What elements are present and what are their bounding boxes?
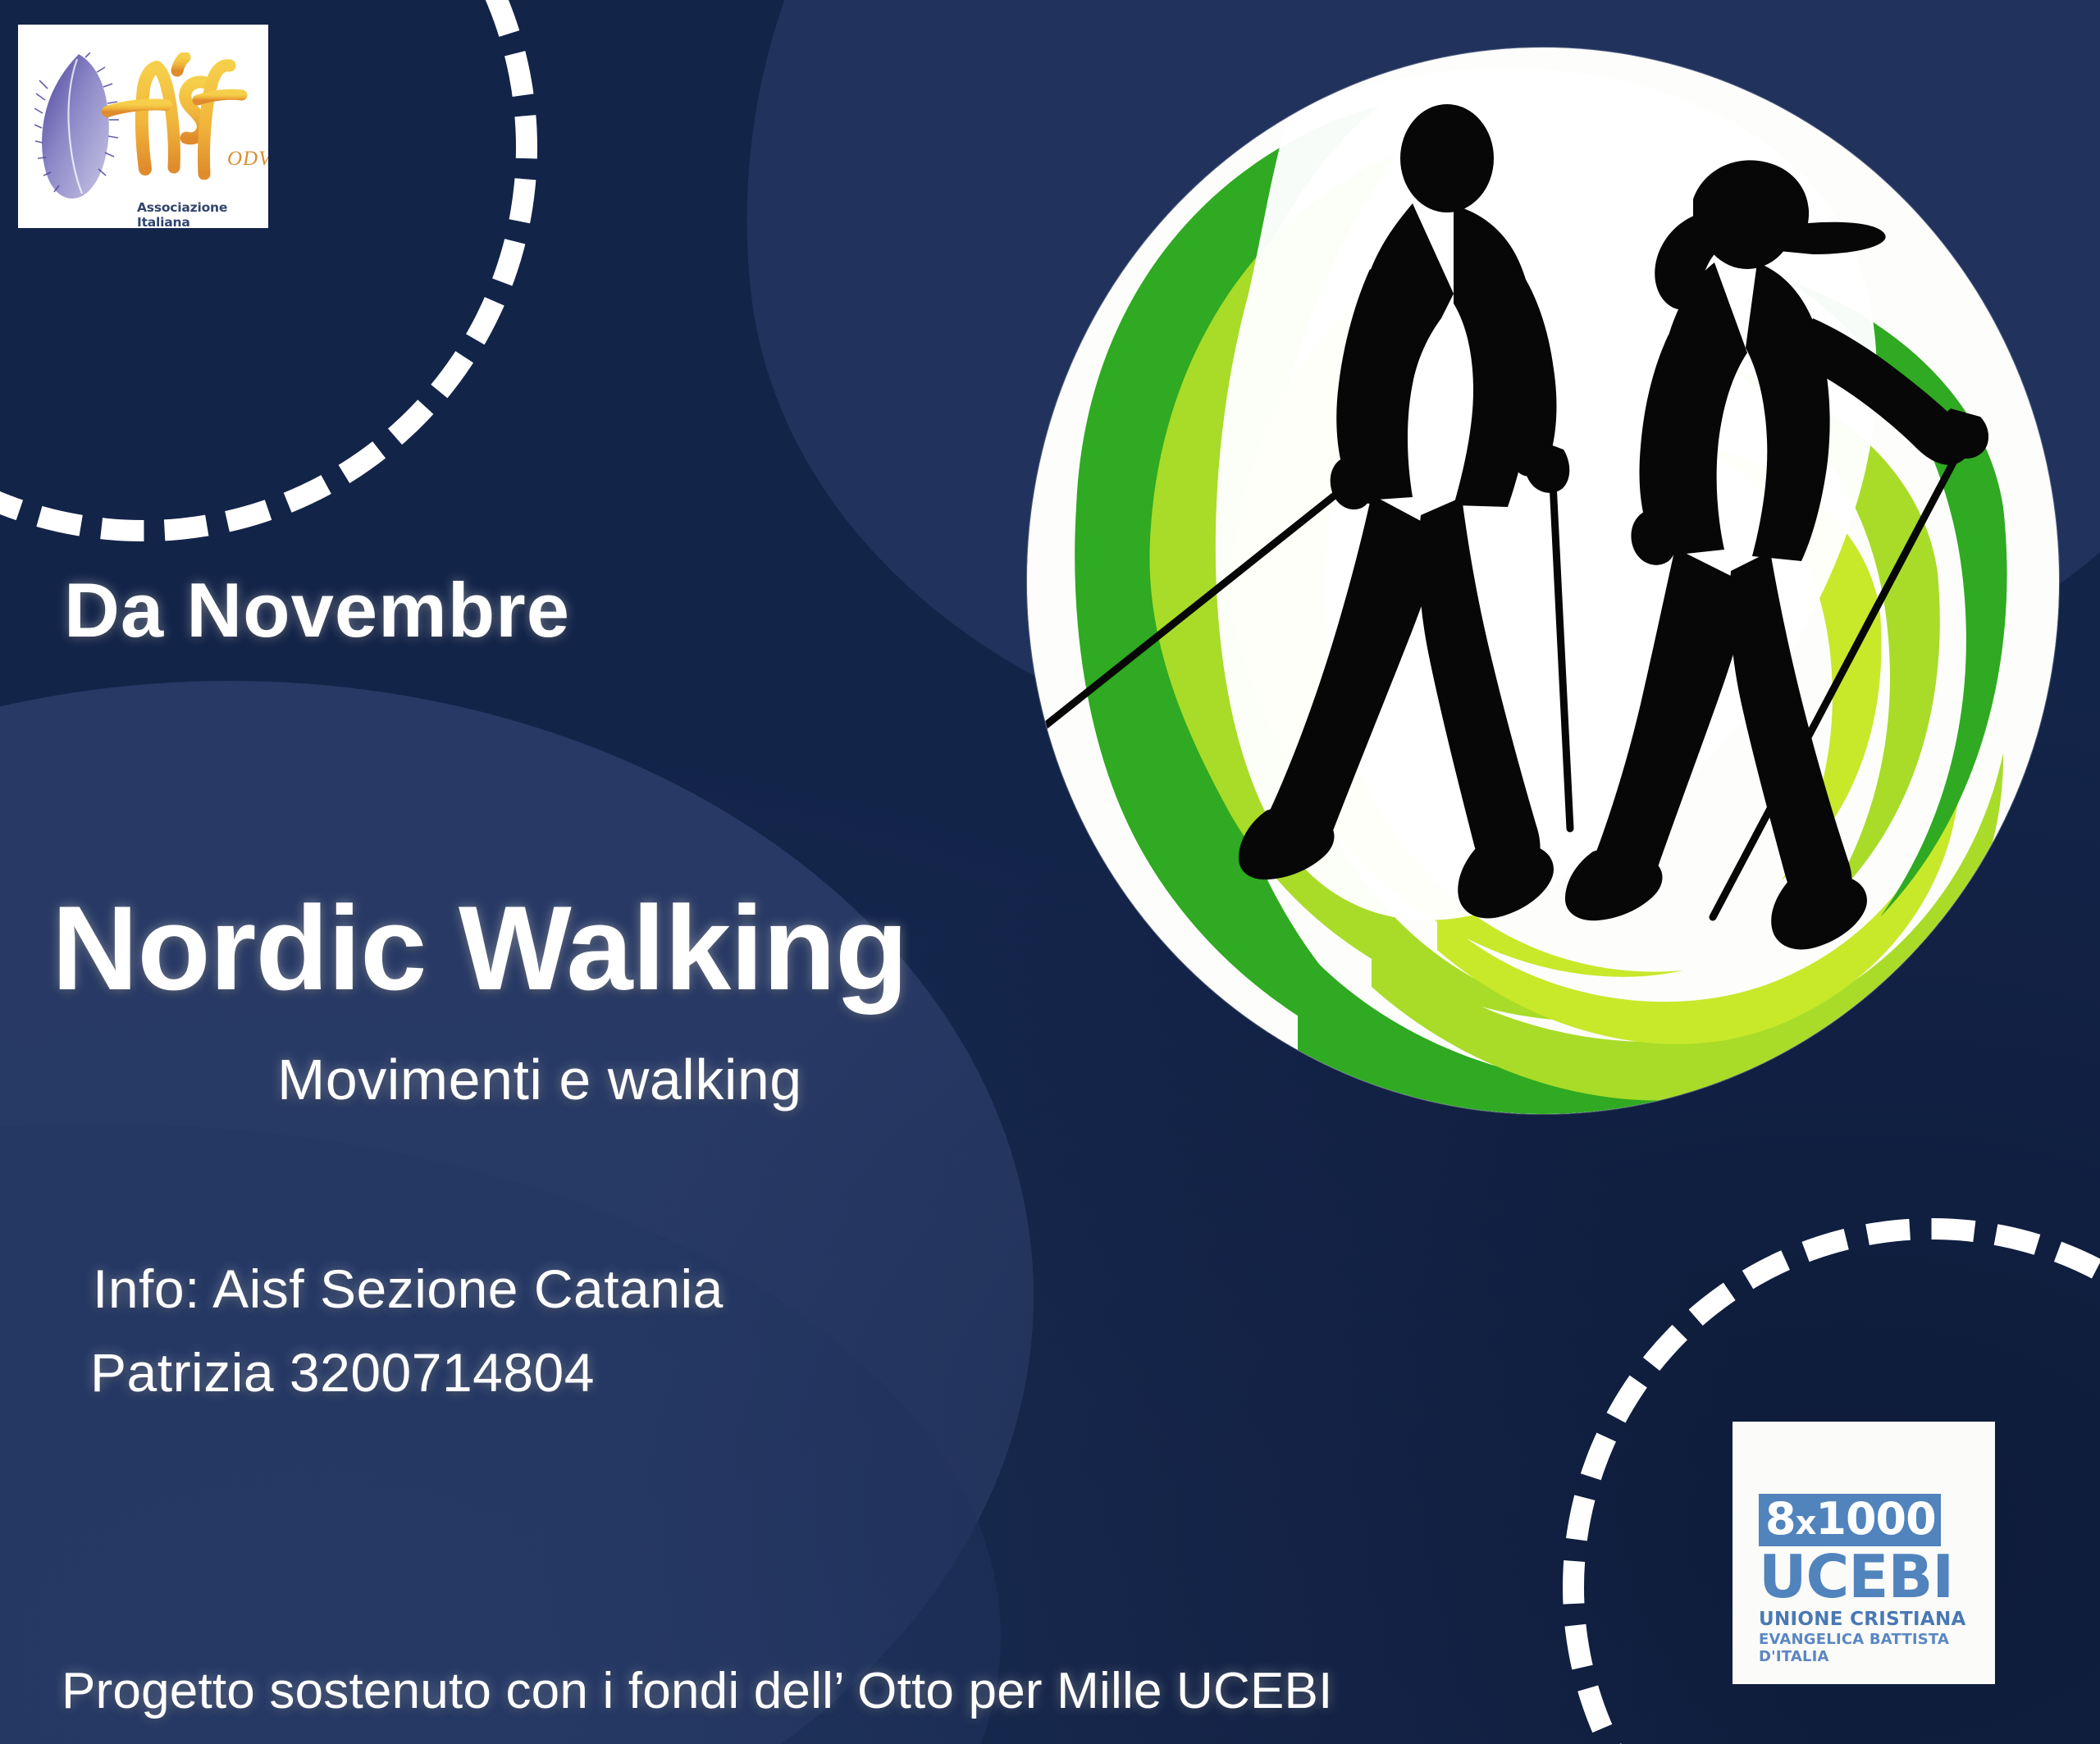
page-subtitle: Movimenti e walking bbox=[277, 1047, 802, 1112]
contact-person-phone: Patrizia 3200714804 bbox=[90, 1341, 595, 1404]
ucebi-line-1: UNIONE CRISTIANA bbox=[1759, 1609, 1969, 1630]
page-title: Nordic Walking bbox=[52, 879, 907, 1017]
aisf-wordmark-icon bbox=[96, 53, 248, 180]
funding-note: Progetto sostenuto con i fondi dell’ Ott… bbox=[62, 1662, 1333, 1720]
green-swirl-graphic bbox=[1027, 48, 2059, 1114]
nordic-walking-image bbox=[1027, 48, 2059, 1114]
aisf-subtitle: Associazione Italiana Sindrome Fibromial… bbox=[137, 200, 268, 228]
event-start-date: Da Novembre bbox=[64, 566, 570, 655]
ucebi-badge-8: 8 bbox=[1765, 1493, 1796, 1545]
ucebi-badge-1000: 1000 bbox=[1815, 1493, 1935, 1545]
aisf-subtitle-line-1: Associazione Italiana bbox=[137, 200, 268, 228]
ucebi-8x1000-badge: 8x1000 bbox=[1759, 1494, 1941, 1546]
ucebi-line-2: EVANGELICA BATTISTA D'ITALIA bbox=[1759, 1631, 1969, 1665]
ucebi-logo-inner: 8x1000 UCEBI UNIONE CRISTIANA EVANGELICA… bbox=[1759, 1494, 1969, 1665]
ucebi-badge-x: x bbox=[1796, 1504, 1816, 1542]
poster-canvas: ODV Associazione Italiana Sindrome Fibro… bbox=[0, 0, 2100, 1744]
ucebi-logo-card: 8x1000 UCEBI UNIONE CRISTIANA EVANGELICA… bbox=[1732, 1422, 1995, 1684]
contact-organisation: Info: Aisf Sezione Catania bbox=[93, 1258, 724, 1320]
aisf-odv-label: ODV bbox=[227, 148, 268, 171]
ucebi-acronym: UCEBI bbox=[1759, 1548, 1969, 1606]
aisf-logo-card: ODV Associazione Italiana Sindrome Fibro… bbox=[18, 25, 268, 228]
